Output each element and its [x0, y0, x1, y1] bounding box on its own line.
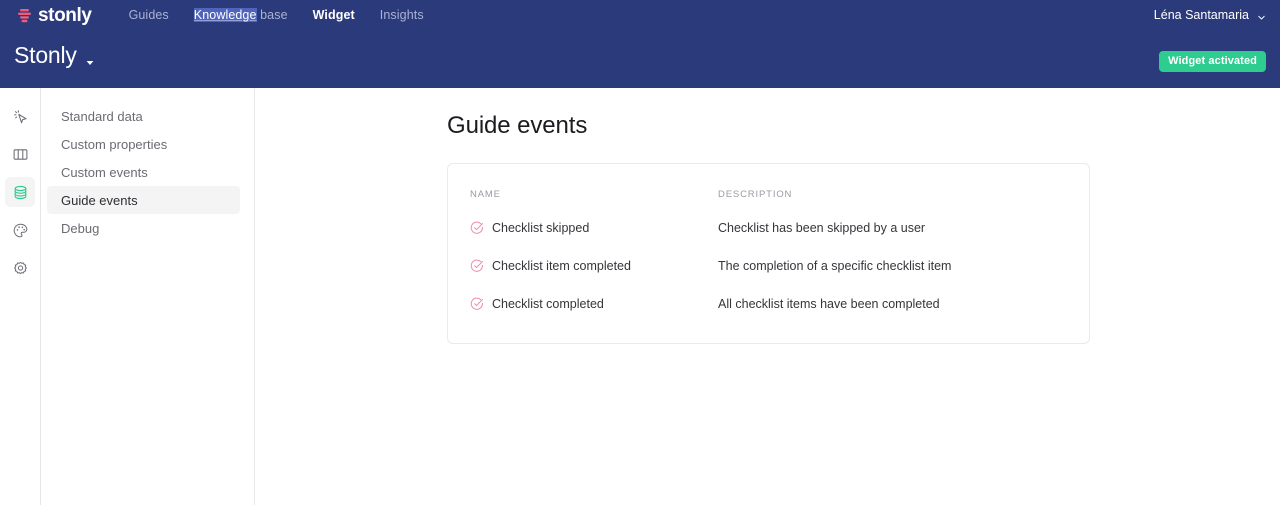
stonly-logo-icon: [16, 7, 33, 24]
event-name: Checklist skipped: [492, 221, 589, 235]
rail-item-database[interactable]: [5, 177, 35, 207]
sidebar-item-custom-properties[interactable]: Custom properties: [47, 130, 240, 158]
icon-rail: [0, 88, 41, 505]
sidebar-item-custom-events[interactable]: Custom events: [47, 158, 240, 186]
nav-item-guides[interactable]: Guides: [129, 8, 169, 22]
account-menu[interactable]: Léna Santamaria: [1154, 0, 1266, 30]
table-cell-description: Checklist has been skipped by a user: [718, 221, 925, 235]
table-cell-description: All checklist items have been completed: [718, 297, 940, 311]
table-cell-name: Checklist item completed: [470, 259, 718, 273]
table-row[interactable]: Checklist item completed The completion …: [448, 247, 1089, 285]
status-badge-widget-activated[interactable]: Widget activated: [1159, 51, 1266, 72]
card-bottom-padding: [448, 323, 1089, 343]
table-cell-name: Checklist skipped: [470, 221, 718, 235]
top-navigation-bar: stonly Guides Knowledge base Widget Insi…: [0, 0, 1280, 30]
sidebar-item-debug[interactable]: Debug: [47, 214, 240, 242]
nav-item-knowledge-base-rest: base: [257, 8, 288, 22]
event-name: Checklist item completed: [492, 259, 631, 273]
cursor-click-icon: [12, 108, 29, 125]
column-header-name: Name: [470, 189, 718, 200]
column-header-description: Description: [718, 189, 792, 200]
caret-down-icon: [86, 53, 94, 59]
guide-events-table-card: Name Description Checklist skipped Check…: [447, 163, 1090, 344]
account-name: Léna Santamaria: [1154, 8, 1249, 22]
brand-name: stonly: [38, 6, 92, 25]
app-header: stonly Guides Knowledge base Widget Insi…: [0, 0, 1280, 88]
table-header-row: Name Description: [448, 164, 1089, 209]
sidebar-item-standard-data[interactable]: Standard data: [47, 102, 240, 130]
rail-item-layout-columns[interactable]: [5, 139, 35, 169]
page-title: Guide events: [447, 112, 587, 140]
nav-item-widget[interactable]: Widget: [313, 8, 355, 22]
table-row[interactable]: Checklist skipped Checklist has been ski…: [448, 209, 1089, 247]
circle-check-icon: [470, 297, 484, 311]
table-cell-name: Checklist completed: [470, 297, 718, 311]
nav-item-knowledge-base[interactable]: Knowledge base: [194, 8, 288, 22]
event-name: Checklist completed: [492, 297, 604, 311]
brand-logo[interactable]: stonly: [16, 6, 92, 25]
gear-icon: [12, 260, 29, 277]
sidebar-item-guide-events[interactable]: Guide events: [47, 186, 240, 214]
settings-sidebar: Standard data Custom properties Custom e…: [41, 88, 255, 505]
nav-item-knowledge-base-selected: Knowledge: [194, 8, 257, 22]
nav-item-insights[interactable]: Insights: [380, 8, 424, 22]
main-content: Guide events Name Description Checklist …: [256, 88, 1280, 505]
database-icon: [12, 184, 29, 201]
chevron-down-icon: [1257, 11, 1266, 20]
palette-icon: [12, 222, 29, 239]
table-cell-description: The completion of a specific checklist i…: [718, 259, 951, 273]
rail-item-palette[interactable]: [5, 215, 35, 245]
circle-check-icon: [470, 221, 484, 235]
top-nav-items: Guides Knowledge base Widget Insights: [129, 8, 424, 22]
rail-item-cursor-click[interactable]: [5, 101, 35, 131]
layout-columns-icon: [12, 146, 29, 163]
workspace-name: Stonly: [14, 42, 77, 69]
rail-item-settings[interactable]: [5, 253, 35, 283]
workspace-switcher[interactable]: Stonly: [14, 42, 94, 69]
table-row[interactable]: Checklist completed All checklist items …: [448, 285, 1089, 323]
circle-check-icon: [470, 259, 484, 273]
